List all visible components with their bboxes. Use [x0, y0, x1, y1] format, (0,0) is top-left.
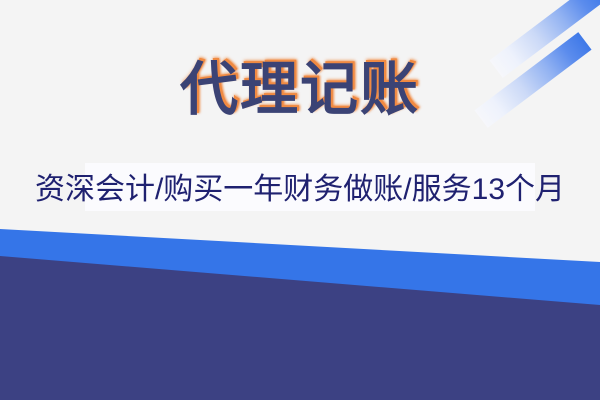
promotional-banner: 代理记账 资深会计/购买一年财务做账/服务13个月: [0, 0, 600, 400]
banner-subtitle: 资深会计/购买一年财务做账/服务13个月: [35, 172, 565, 208]
title-container: 代理记账: [0, 55, 600, 125]
subtitle-container: 资深会计/购买一年财务做账/服务13个月: [0, 172, 600, 208]
banner-title: 代理记账: [180, 55, 420, 125]
